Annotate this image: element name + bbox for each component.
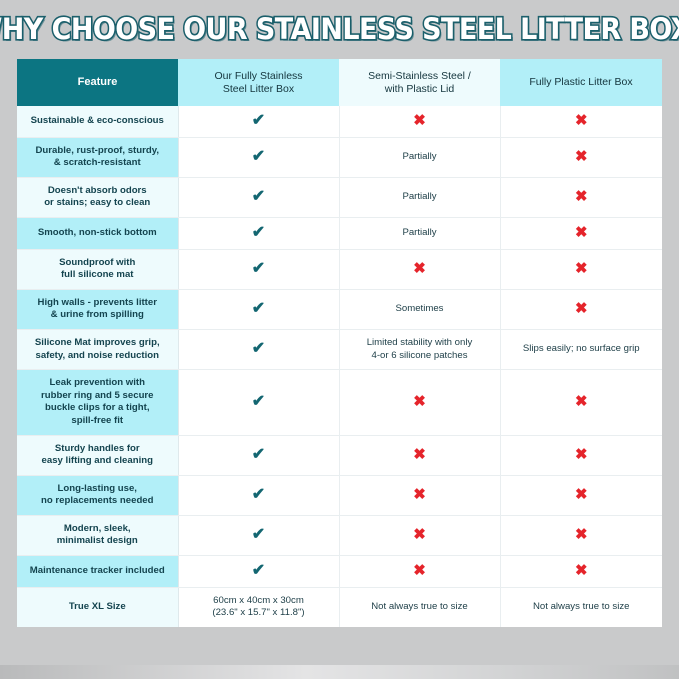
ours-value-line2: (23.6" x 15.7" x 11.8") [212, 607, 304, 620]
table-body: Sustainable & eco-conscious✔✖✖Durable, r… [17, 106, 662, 627]
cross-icon: ✖ [575, 447, 588, 462]
cell-ours: ✔ [178, 106, 339, 137]
table-row: Durable, rust-proof, sturdy,& scratch-re… [17, 137, 662, 177]
cell-ours: ✔ [178, 475, 339, 515]
feature-cell: Leak prevention withrubber ring and 5 se… [17, 370, 178, 435]
feature-cell: Maintenance tracker included [17, 556, 178, 588]
check-icon: ✔ [252, 261, 265, 277]
semi-value-line1: Partially [402, 151, 436, 164]
semi-value-line1: Not always true to size [371, 601, 468, 614]
cell-fully-plastic: ✖ [500, 556, 662, 588]
comparison-infographic: WHY CHOOSE OUR STAINLESS STEEL LITTER BO… [0, 0, 679, 679]
feature-cell: Silicone Mat improves grip,safety, and n… [17, 329, 178, 369]
cross-icon: ✖ [413, 527, 426, 542]
comparison-table: Feature Our Fully Stainless Steel Litter… [17, 59, 662, 627]
ours-value-line1: 60cm x 40cm x 30cm [213, 595, 304, 608]
feature-cell: Long-lasting use,no replacements needed [17, 475, 178, 515]
table-row: Maintenance tracker included✔✖✖ [17, 556, 662, 588]
cross-icon: ✖ [413, 261, 426, 276]
feature-label-line1: Leak prevention with [25, 377, 170, 390]
cross-icon: ✖ [413, 563, 426, 578]
cell-semi-stainless: ✖ [339, 249, 500, 289]
feature-cell: Sturdy handles foreasy lifting and clean… [17, 435, 178, 475]
cell-ours: ✔ [178, 435, 339, 475]
column-header-plastic-line1: Fully Plastic Litter Box [506, 76, 656, 89]
check-icon: ✔ [252, 447, 265, 463]
cross-icon: ✖ [413, 394, 426, 409]
feature-label-line1: High walls - prevents litter [25, 297, 170, 310]
table-row: Soundproof withfull silicone mat✔✖✖ [17, 249, 662, 289]
feature-label-line2: & urine from spilling [25, 309, 170, 322]
check-icon: ✔ [252, 487, 265, 503]
page-title: WHY CHOOSE OUR STAINLESS STEEL LITTER BO… [0, 12, 679, 46]
table-row: Doesn't absorb odorsor stains; easy to c… [17, 177, 662, 217]
semi-value-line1: Partially [402, 227, 436, 240]
check-icon: ✔ [252, 225, 265, 241]
cross-icon: ✖ [575, 225, 588, 240]
cell-semi-stainless: ✖ [339, 556, 500, 588]
column-header-semi-stainless: Semi-Stainless Steel / with Plastic Lid [339, 59, 500, 106]
cell-fully-plastic: ✖ [500, 106, 662, 137]
cell-fully-plastic: ✖ [500, 249, 662, 289]
check-icon: ✔ [252, 113, 265, 129]
feature-cell: High walls - prevents litter& urine from… [17, 289, 178, 329]
feature-label-line1: Modern, sleek, [25, 523, 170, 536]
cell-ours: ✔ [178, 217, 339, 249]
feature-label-line1: Maintenance tracker included [25, 565, 170, 578]
column-header-ours-line1: Our Fully Stainless [184, 70, 333, 83]
semi-value-line1: Limited stability with only [367, 337, 473, 350]
cross-icon: ✖ [575, 149, 588, 164]
cell-fully-plastic: Slips easily; no surface grip [500, 329, 662, 369]
feature-cell: Modern, sleek,minimalist design [17, 515, 178, 555]
feature-cell: Smooth, non-stick bottom [17, 217, 178, 249]
column-header-fully-plastic: Fully Plastic Litter Box [500, 59, 662, 106]
feature-label-line4: spill-free fit [25, 415, 170, 428]
cell-fully-plastic: ✖ [500, 137, 662, 177]
cell-ours: ✔ [178, 249, 339, 289]
cell-semi-stainless: Sometimes [339, 289, 500, 329]
check-icon: ✔ [252, 341, 265, 357]
check-icon: ✔ [252, 149, 265, 165]
feature-label-line1: True XL Size [25, 601, 170, 614]
check-icon: ✔ [252, 189, 265, 205]
column-header-semi-line1: Semi-Stainless Steel / [345, 70, 494, 83]
plastic-value-line1: Slips easily; no surface grip [523, 343, 640, 356]
table-row: Smooth, non-stick bottom✔Partially✖ [17, 217, 662, 249]
feature-label-line1: Sustainable & eco-conscious [25, 115, 170, 128]
feature-label-line2: or stains; easy to clean [25, 197, 170, 210]
feature-label-line2: safety, and noise reduction [25, 350, 170, 363]
cell-ours: 60cm x 40cm x 30cm(23.6" x 15.7" x 11.8"… [178, 587, 339, 627]
cross-icon: ✖ [575, 527, 588, 542]
cell-fully-plastic: ✖ [500, 217, 662, 249]
feature-cell: True XL Size [17, 587, 178, 627]
feature-cell: Sustainable & eco-conscious [17, 106, 178, 137]
cross-icon: ✖ [575, 261, 588, 276]
cell-semi-stainless: Partially [339, 137, 500, 177]
cell-semi-stainless: Partially [339, 177, 500, 217]
cell-ours: ✔ [178, 556, 339, 588]
cell-fully-plastic: ✖ [500, 177, 662, 217]
feature-label-line2: no replacements needed [25, 495, 170, 508]
feature-label-line2: easy lifting and cleaning [25, 455, 170, 468]
cell-semi-stainless: Partially [339, 217, 500, 249]
cell-ours: ✔ [178, 515, 339, 555]
cross-icon: ✖ [575, 394, 588, 409]
table-header-row: Feature Our Fully Stainless Steel Litter… [17, 59, 662, 106]
cell-fully-plastic: ✖ [500, 289, 662, 329]
cross-icon: ✖ [575, 487, 588, 502]
cross-icon: ✖ [575, 563, 588, 578]
cell-semi-stainless: ✖ [339, 475, 500, 515]
cell-fully-plastic: ✖ [500, 370, 662, 435]
cell-semi-stainless: Limited stability with only4-or 6 silico… [339, 329, 500, 369]
cell-ours: ✔ [178, 370, 339, 435]
feature-label-line1: Silicone Mat improves grip, [25, 337, 170, 350]
column-header-ours-line2: Steel Litter Box [184, 83, 333, 96]
feature-cell: Durable, rust-proof, sturdy,& scratch-re… [17, 137, 178, 177]
feature-label-line2: & scratch-resistant [25, 157, 170, 170]
feature-cell: Doesn't absorb odorsor stains; easy to c… [17, 177, 178, 217]
page-title-container: WHY CHOOSE OUR STAINLESS STEEL LITTER BO… [0, 0, 679, 54]
table-row: True XL Size60cm x 40cm x 30cm(23.6" x 1… [17, 587, 662, 627]
feature-label-line2: rubber ring and 5 secure [25, 390, 170, 403]
cell-semi-stainless: Not always true to size [339, 587, 500, 627]
check-icon: ✔ [252, 563, 265, 579]
feature-label-line1: Soundproof with [25, 257, 170, 270]
feature-label-line2: full silicone mat [25, 269, 170, 282]
cell-fully-plastic: ✖ [500, 435, 662, 475]
cell-semi-stainless: ✖ [339, 370, 500, 435]
bottom-edge-gradient [0, 665, 679, 679]
cell-ours: ✔ [178, 289, 339, 329]
feature-cell: Soundproof withfull silicone mat [17, 249, 178, 289]
table-row: Silicone Mat improves grip,safety, and n… [17, 329, 662, 369]
cell-semi-stainless: ✖ [339, 515, 500, 555]
table-header: Feature Our Fully Stainless Steel Litter… [17, 59, 662, 106]
semi-value-line1: Partially [402, 191, 436, 204]
cell-ours: ✔ [178, 137, 339, 177]
feature-label-line1: Doesn't absorb odors [25, 185, 170, 198]
cross-icon: ✖ [413, 447, 426, 462]
column-header-feature: Feature [17, 59, 178, 106]
check-icon: ✔ [252, 527, 265, 543]
cell-fully-plastic: Not always true to size [500, 587, 662, 627]
feature-label-line1: Long-lasting use, [25, 483, 170, 496]
cross-icon: ✖ [575, 113, 588, 128]
feature-label-line1: Sturdy handles for [25, 443, 170, 456]
feature-label-line1: Durable, rust-proof, sturdy, [25, 145, 170, 158]
cross-icon: ✖ [413, 113, 426, 128]
cross-icon: ✖ [575, 189, 588, 204]
plastic-value-line1: Not always true to size [533, 601, 630, 614]
check-icon: ✔ [252, 301, 265, 317]
cell-fully-plastic: ✖ [500, 515, 662, 555]
table-row: Modern, sleek,minimalist design✔✖✖ [17, 515, 662, 555]
cell-ours: ✔ [178, 329, 339, 369]
cell-ours: ✔ [178, 177, 339, 217]
cross-icon: ✖ [575, 301, 588, 316]
feature-label-line3: buckle clips for a tight, [25, 402, 170, 415]
table-row: Long-lasting use,no replacements needed✔… [17, 475, 662, 515]
column-header-semi-line2: with Plastic Lid [345, 83, 494, 96]
feature-label-line1: Smooth, non-stick bottom [25, 227, 170, 240]
table-row: Sturdy handles foreasy lifting and clean… [17, 435, 662, 475]
feature-label-line2: minimalist design [25, 535, 170, 548]
semi-value-line1: Sometimes [396, 303, 444, 316]
check-icon: ✔ [252, 394, 265, 410]
column-header-ours: Our Fully Stainless Steel Litter Box [178, 59, 339, 106]
table-row: High walls - prevents litter& urine from… [17, 289, 662, 329]
comparison-table-container: Feature Our Fully Stainless Steel Litter… [17, 59, 662, 627]
cell-fully-plastic: ✖ [500, 475, 662, 515]
cell-semi-stainless: ✖ [339, 106, 500, 137]
cross-icon: ✖ [413, 487, 426, 502]
table-row: Sustainable & eco-conscious✔✖✖ [17, 106, 662, 137]
semi-value-line2: 4-or 6 silicone patches [372, 350, 468, 363]
table-row: Leak prevention withrubber ring and 5 se… [17, 370, 662, 435]
cell-semi-stainless: ✖ [339, 435, 500, 475]
